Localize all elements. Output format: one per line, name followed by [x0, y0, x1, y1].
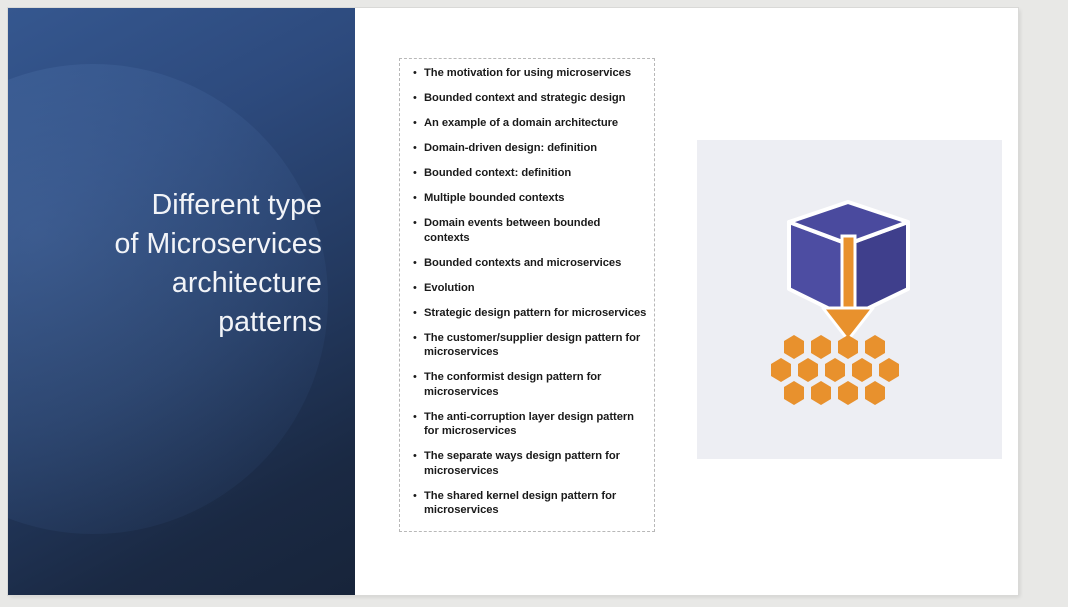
- hexagon: [784, 335, 804, 359]
- list-item-label: Multiple bounded contexts: [424, 191, 648, 206]
- hexagon: [838, 381, 858, 405]
- list-item-label: Domain-driven design: definition: [424, 141, 648, 156]
- list-item-label: Bounded context and strategic design: [424, 91, 648, 106]
- illustration-image: [697, 140, 1002, 459]
- list-item[interactable]: •Bounded context and strategic design: [406, 91, 648, 106]
- list-item-label: Bounded context: definition: [424, 166, 648, 181]
- bullet-marker-icon: •: [406, 66, 424, 81]
- list-item-label: Domain events between bounded contexts: [424, 216, 648, 245]
- list-item[interactable]: •The anti-corruption layer design patter…: [406, 410, 648, 439]
- list-item-label: The anti-corruption layer design pattern…: [424, 410, 648, 439]
- list-item[interactable]: •The customer/supplier design pattern fo…: [406, 331, 648, 360]
- slide-canvas: Different type of Microservices architec…: [8, 8, 1018, 595]
- list-item-label: The conformist design pattern for micros…: [424, 370, 648, 399]
- hexagon: [784, 381, 804, 405]
- bullet-marker-icon: •: [406, 116, 424, 131]
- bullet-marker-icon: •: [406, 410, 424, 425]
- list-item[interactable]: •Domain events between bounded contexts: [406, 216, 648, 245]
- list-item-label: Evolution: [424, 281, 648, 296]
- hexagon: [798, 358, 818, 382]
- list-item-label: Bounded contexts and microservices: [424, 256, 648, 271]
- bullet-marker-icon: •: [406, 449, 424, 464]
- bullet-marker-icon: •: [406, 489, 424, 504]
- bullet-marker-icon: •: [406, 331, 424, 346]
- bullet-marker-icon: •: [406, 306, 424, 321]
- list-item[interactable]: •Evolution: [406, 281, 648, 296]
- list-item[interactable]: •Multiple bounded contexts: [406, 191, 648, 206]
- bullet-marker-icon: •: [406, 216, 424, 231]
- list-item[interactable]: •The separate ways design pattern for mi…: [406, 449, 648, 478]
- list-item[interactable]: •An example of a domain architecture: [406, 116, 648, 131]
- hexagon: [811, 335, 831, 359]
- hexagon: [811, 381, 831, 405]
- bullet-marker-icon: •: [406, 166, 424, 181]
- hexagon: [771, 358, 791, 382]
- hexagon-grid: [771, 335, 899, 405]
- bullet-list-placeholder[interactable]: •The motivation for using microservices•…: [399, 58, 655, 532]
- list-item-label: The motivation for using microservices: [424, 66, 648, 81]
- list-item-label: The customer/supplier design pattern for…: [424, 331, 648, 360]
- hexagon: [825, 358, 845, 382]
- list-item-label: Strategic design pattern for microservic…: [424, 306, 648, 321]
- list-item[interactable]: •The shared kernel design pattern for mi…: [406, 489, 648, 518]
- list-item[interactable]: •Strategic design pattern for microservi…: [406, 306, 648, 321]
- title-panel: Different type of Microservices architec…: [8, 8, 355, 595]
- hexagon: [865, 381, 885, 405]
- list-item-label: The shared kernel design pattern for mic…: [424, 489, 648, 518]
- bullet-marker-icon: •: [406, 370, 424, 385]
- bullet-marker-icon: •: [406, 141, 424, 156]
- list-item[interactable]: •Domain-driven design: definition: [406, 141, 648, 156]
- hexagon: [852, 358, 872, 382]
- monolith-to-microservices-icon: [697, 140, 1002, 459]
- list-item[interactable]: •The motivation for using microservices: [406, 66, 648, 81]
- hexagon: [879, 358, 899, 382]
- list-item[interactable]: •Bounded contexts and microservices: [406, 256, 648, 271]
- bullet-marker-icon: •: [406, 191, 424, 206]
- hexagon: [865, 335, 885, 359]
- bullet-marker-icon: •: [406, 256, 424, 271]
- list-item-label: An example of a domain architecture: [424, 116, 648, 131]
- bullet-list: •The motivation for using microservices•…: [406, 66, 648, 518]
- list-item-label: The separate ways design pattern for mic…: [424, 449, 648, 478]
- list-item[interactable]: •The conformist design pattern for micro…: [406, 370, 648, 399]
- page-title: Different type of Microservices architec…: [64, 186, 322, 342]
- list-item[interactable]: •Bounded context: definition: [406, 166, 648, 181]
- bullet-marker-icon: •: [406, 91, 424, 106]
- bullet-marker-icon: •: [406, 281, 424, 296]
- hexagon: [838, 335, 858, 359]
